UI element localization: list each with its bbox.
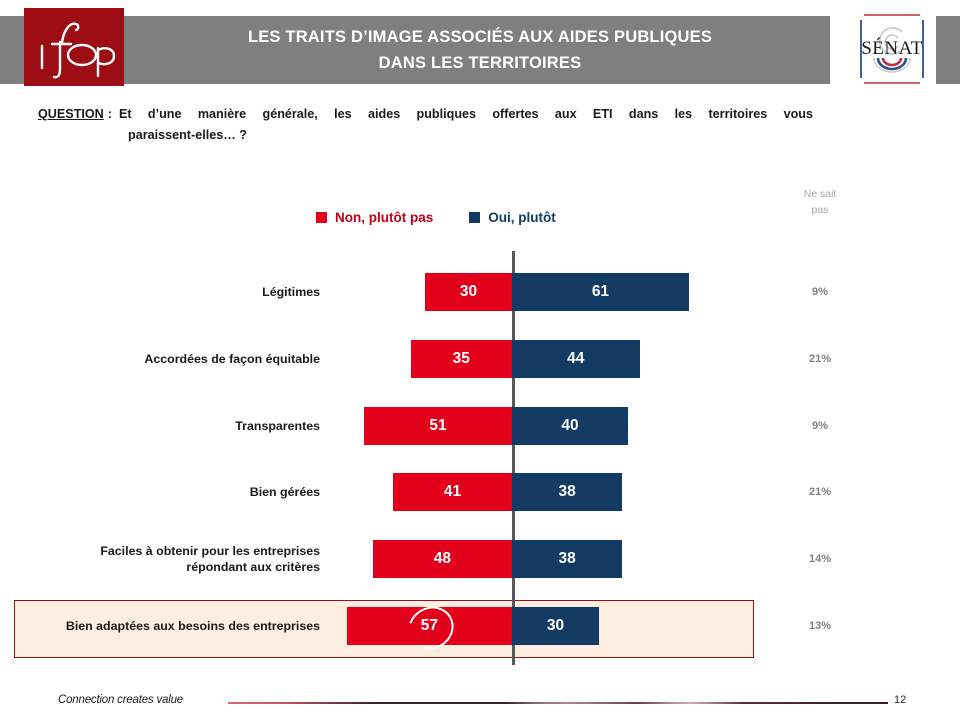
bar-positive: 44 [512, 340, 640, 378]
ne-sait-pas-value: 14% [782, 553, 858, 565]
bar-negative: 57 [347, 607, 512, 645]
legend-swatch-negative [316, 212, 327, 223]
bar-positive: 30 [512, 607, 599, 645]
chart-row-label: Transparentes [20, 418, 320, 434]
bar-negative: 51 [364, 407, 512, 445]
bar-positive-value: 44 [567, 350, 584, 368]
ne-sait-pas-column-header: Ne sait pas [782, 186, 858, 218]
legend-label-positive: Oui, plutôt [488, 210, 555, 225]
bar-negative-value: 51 [429, 417, 446, 435]
ne-sait-pas-header-line2: pas [782, 202, 858, 218]
chart-row: Bien gérées413821% [0, 459, 960, 525]
ne-sait-pas-value: 13% [782, 620, 858, 632]
ifop-logo [24, 8, 124, 86]
chart-row-label: Faciles à obtenir pour les entreprisesré… [20, 543, 320, 575]
bar-positive: 40 [512, 407, 628, 445]
slide-canvas: LES TRAITS D’IMAGE ASSOCIÉS AUX AIDES PU… [0, 0, 960, 720]
bar-negative-value: 48 [434, 550, 451, 568]
bar-positive-value: 40 [561, 417, 578, 435]
page-title-line1: LES TRAITS D’IMAGE ASSOCIÉS AUX AIDES PU… [160, 24, 800, 50]
ne-sait-pas-header-line1: Ne sait [782, 186, 858, 202]
page-title: LES TRAITS D’IMAGE ASSOCIÉS AUX AIDES PU… [160, 24, 800, 76]
chart-row-label-line1: Légitimes [20, 284, 320, 300]
svg-text:SÉNAT: SÉNAT [861, 37, 923, 59]
bar-negative: 48 [373, 540, 512, 578]
chart-legend: Non, plutôt pas Oui, plutôt [316, 210, 556, 225]
ne-sait-pas-value: 21% [782, 486, 858, 498]
chart-row: Bien adaptées aux besoins des entreprise… [0, 593, 960, 659]
bar-positive-value: 30 [547, 617, 564, 635]
bar-positive: 61 [512, 273, 689, 311]
question-colon: : [108, 104, 119, 125]
chart-row: Légitimes30619% [0, 259, 960, 325]
chart-row: Faciles à obtenir pour les entreprisesré… [0, 526, 960, 592]
bar-negative-value: 41 [444, 483, 461, 501]
bar-positive-value: 38 [558, 550, 575, 568]
chart-row-label-line1: Bien gérées [20, 484, 320, 500]
chart-row-label-line1: Faciles à obtenir pour les entreprises [20, 543, 320, 559]
legend-item-non-plutot-pas: Non, plutôt pas [316, 210, 433, 225]
bar-positive: 38 [512, 540, 622, 578]
bar-positive-value: 61 [592, 283, 609, 301]
ne-sait-pas-value: 21% [782, 353, 858, 365]
bar-positive: 38 [512, 473, 622, 511]
bar-negative-value: 30 [460, 283, 477, 301]
chart-row-label: Accordées de façon équitable [20, 351, 320, 367]
chart-row-label-line1: Transparentes [20, 418, 320, 434]
page-title-line2: DANS LES TERRITOIRES [160, 50, 800, 76]
question-block: QUESTION : Et d’une manière générale, le… [38, 104, 813, 146]
bar-negative-value: 57 [421, 617, 438, 635]
chart-row-label: Légitimes [20, 284, 320, 300]
header-bar-right-stub [936, 16, 960, 84]
question-text-line1: Et d’une manière générale, les aides pub… [119, 104, 813, 125]
diverging-bar-chart: Légitimes30619%Accordées de façon équita… [0, 246, 960, 670]
bar-negative: 30 [425, 273, 512, 311]
chart-row-label: Bien gérées [20, 484, 320, 500]
question-label: QUESTION [38, 104, 108, 125]
legend-item-oui-plutot: Oui, plutôt [469, 210, 555, 225]
ne-sait-pas-value: 9% [782, 286, 858, 298]
chart-row: Transparentes51409% [0, 393, 960, 459]
legend-label-negative: Non, plutôt pas [335, 210, 433, 225]
senat-logo: SÉNAT [850, 6, 934, 92]
chart-row-label-line1: Accordées de façon équitable [20, 351, 320, 367]
bar-negative: 41 [393, 473, 512, 511]
chart-row-label-line2: répondant aux critères [20, 559, 320, 575]
legend-swatch-positive [469, 212, 480, 223]
chart-row-label: Bien adaptées aux besoins des entreprise… [20, 618, 320, 634]
bar-negative-value: 35 [453, 350, 470, 368]
chart-row-label-line1: Bien adaptées aux besoins des entreprise… [20, 618, 320, 634]
footer-tagline: Connection creates value [58, 694, 183, 706]
ne-sait-pas-value: 9% [782, 420, 858, 432]
footer-divider [228, 702, 888, 704]
question-text-line2: paraissent-elles… ? [128, 125, 813, 146]
page-number: 12 [894, 694, 906, 706]
bar-negative: 35 [411, 340, 513, 378]
bar-positive-value: 38 [558, 483, 575, 501]
chart-row: Accordées de façon équitable354421% [0, 326, 960, 392]
